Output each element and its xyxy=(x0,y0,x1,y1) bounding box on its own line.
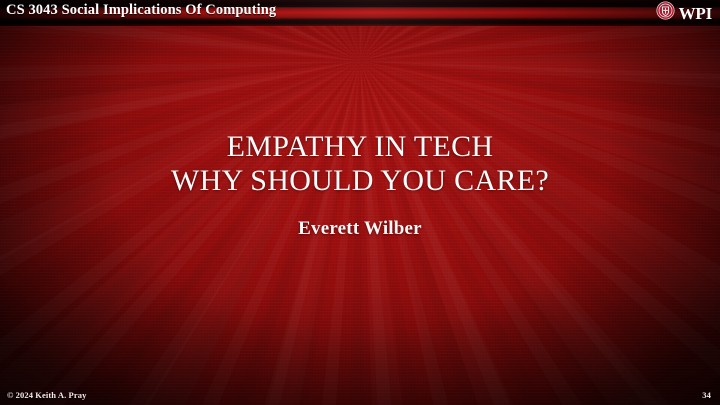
slide-title-line-1: EMPATHY IN TECH xyxy=(171,130,549,164)
wpi-wordmark: WPI xyxy=(679,5,712,22)
wpi-logo: WPI xyxy=(656,2,712,24)
slide-title: EMPATHY IN TECH WHY SHOULD YOU CARE? xyxy=(171,130,549,198)
copyright-notice: © 2024 Keith A. Pray xyxy=(7,390,86,400)
slide-title-line-2: WHY SHOULD YOU CARE? xyxy=(171,164,549,198)
presenter-name: Everett Wilber xyxy=(298,218,422,240)
course-title: CS 3043 Social Implications Of Computing xyxy=(6,2,276,19)
slide-page-number: 34 xyxy=(702,390,711,400)
presentation-slide: CS 3043 Social Implications Of Computing… xyxy=(0,0,720,405)
wpi-seal-icon xyxy=(656,1,675,25)
slide-content: EMPATHY IN TECH WHY SHOULD YOU CARE? Eve… xyxy=(0,26,720,379)
